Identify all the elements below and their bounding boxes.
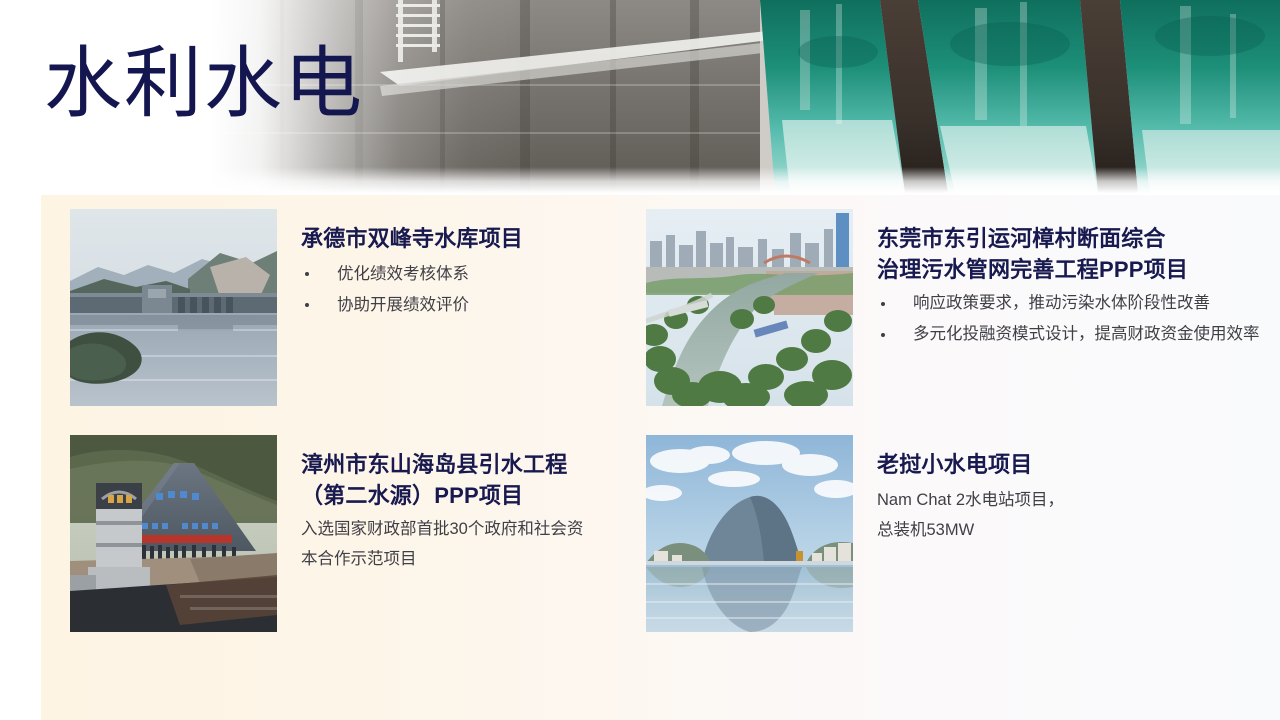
project-card-body: 东莞市东引运河樟村断面综合 治理污水管网完善工程PPP项目 响应政策要求，推动污… bbox=[853, 209, 1271, 351]
list-item: 多元化投融资模式设计，提高财政资金使用效率 bbox=[877, 320, 1271, 349]
project-title: 东莞市东引运河樟村断面综合 治理污水管网完善工程PPP项目 bbox=[877, 223, 1271, 285]
list-item: 优化绩效考核体系 bbox=[301, 260, 660, 289]
project-card-body: 漳州市东山海岛县引水工程 （第二水源）PPP项目 入选国家财政部首批30个政府和… bbox=[277, 435, 660, 574]
urban-canal-aerial-photo bbox=[646, 209, 853, 406]
bullet-dot-icon bbox=[305, 303, 309, 307]
project-description: 入选国家财政部首批30个政府和社会资 本合作示范项目 bbox=[301, 515, 660, 574]
list-item: 协助开展绩效评价 bbox=[301, 291, 660, 320]
project-title: 漳州市东山海岛县引水工程 （第二水源）PPP项目 bbox=[301, 449, 660, 511]
project-bullets: 优化绩效考核体系 协助开展绩效评价 bbox=[301, 260, 660, 320]
water-intake-structure-photo bbox=[70, 435, 277, 632]
project-title: 老挝小水电项目 bbox=[877, 449, 1271, 480]
bullet-dot-icon bbox=[881, 333, 885, 337]
slide-root: 水利水电 bbox=[0, 0, 1280, 720]
content-panel: 承德市双峰寺水库项目 优化绩效考核体系 协助开展绩效评价 bbox=[41, 195, 1280, 720]
mountain-reservoir-photo bbox=[646, 435, 853, 632]
reservoir-dam-photo bbox=[70, 209, 277, 406]
project-card[interactable]: 漳州市东山海岛县引水工程 （第二水源）PPP项目 入选国家财政部首批30个政府和… bbox=[70, 435, 660, 632]
project-bullets: 响应政策要求，推动污染水体阶段性改善 多元化投融资模式设计，提高财政资金使用效率 bbox=[877, 289, 1271, 349]
project-card[interactable]: 东莞市东引运河樟村断面综合 治理污水管网完善工程PPP项目 响应政策要求，推动污… bbox=[646, 209, 1271, 406]
project-card[interactable]: 老挝小水电项目 Nam Chat 2水电站项目， 总装机53MW bbox=[646, 435, 1271, 632]
project-card-body: 老挝小水电项目 Nam Chat 2水电站项目， 总装机53MW bbox=[853, 435, 1271, 545]
project-card-body: 承德市双峰寺水库项目 优化绩效考核体系 协助开展绩效评价 bbox=[277, 209, 660, 322]
project-description: Nam Chat 2水电站项目， 总装机53MW bbox=[877, 486, 1271, 545]
project-title: 承德市双峰寺水库项目 bbox=[301, 223, 660, 254]
bullet-dot-icon bbox=[305, 272, 309, 276]
project-card-grid: 承德市双峰寺水库项目 优化绩效考核体系 协助开展绩效评价 bbox=[41, 195, 1280, 720]
bullet-dot-icon bbox=[881, 302, 885, 306]
page-title: 水利水电 bbox=[44, 42, 364, 125]
list-item: 响应政策要求，推动污染水体阶段性改善 bbox=[877, 289, 1271, 318]
project-card[interactable]: 承德市双峰寺水库项目 优化绩效考核体系 协助开展绩效评价 bbox=[70, 209, 660, 406]
